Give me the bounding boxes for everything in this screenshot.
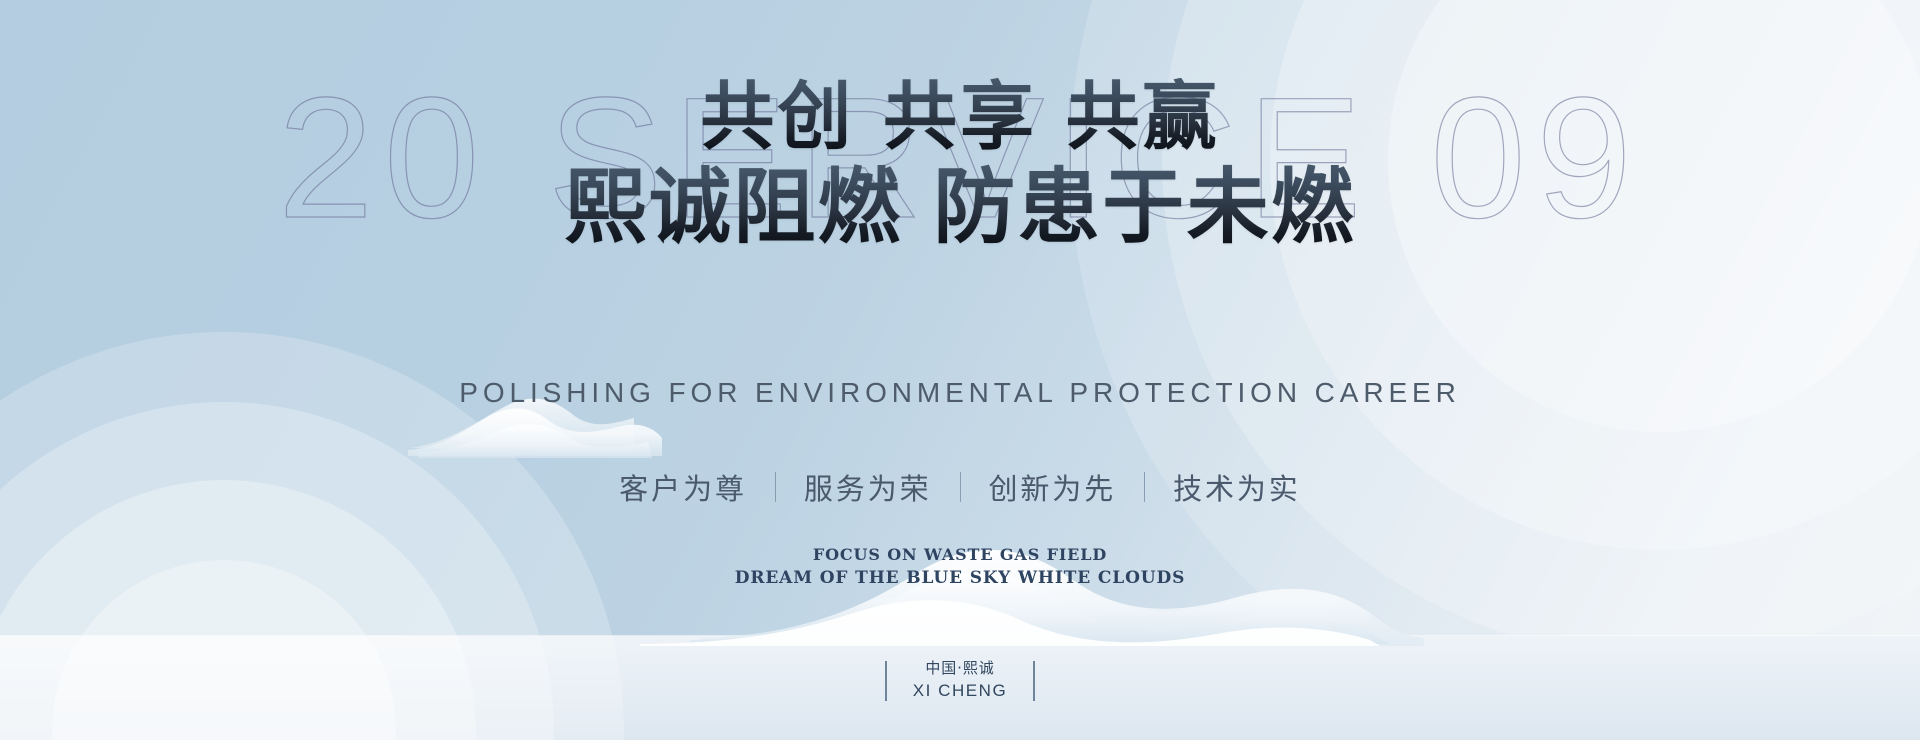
- slogan-item-4: 技术为实: [1145, 466, 1329, 508]
- english-tagline: POLISHING FOR ENVIRONMENTAL PROTECTION C…: [0, 377, 1920, 409]
- slogan-row: 客户为尊 服务为荣 创新为先 技术为实: [0, 466, 1920, 508]
- headline-line-1: 共创 共享 共赢: [0, 78, 1920, 156]
- brand-rule-right: [1033, 661, 1035, 701]
- headline: 共创 共享 共赢 熙诚阻燃 防患于未燃: [0, 78, 1920, 251]
- brand-name-cn: 中国·熙诚: [913, 659, 1007, 678]
- brand-lockup: 中国·熙诚 XI CHENG: [0, 659, 1920, 702]
- banner-canvas: 20 SERVICE 09 共创 共享 共赢 熙诚阻燃 防患于未燃 POLISH…: [0, 0, 1920, 740]
- slogan-item-2: 服务为荣: [776, 466, 960, 508]
- slogan-separator: [1144, 472, 1145, 502]
- slogan-item-1: 客户为尊: [591, 466, 775, 508]
- headline-line-2: 熙诚阻燃 防患于未燃: [0, 164, 1920, 251]
- slogan-separator: [960, 472, 961, 502]
- slogan-separator: [775, 472, 776, 502]
- brand-name-en: XI CHENG: [913, 680, 1007, 702]
- slogan-item-3: 创新为先: [961, 466, 1145, 508]
- sub-slogan: FOCUS ON WASTE GAS FIELD DREAM OF THE BL…: [0, 543, 1920, 591]
- sub-slogan-line-2: DREAM OF THE BLUE SKY WHITE CLOUDS: [0, 566, 1920, 591]
- sub-slogan-line-1: FOCUS ON WASTE GAS FIELD: [0, 543, 1920, 566]
- brand-text: 中国·熙诚 XI CHENG: [913, 659, 1007, 702]
- brand-rule-left: [885, 661, 887, 701]
